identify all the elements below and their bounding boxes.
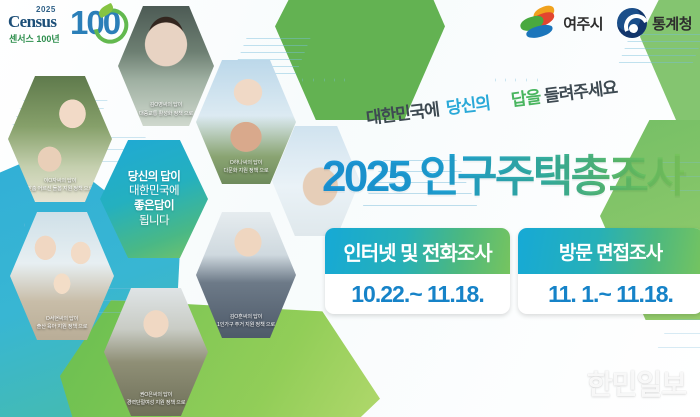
watermark: 한민일보 (587, 363, 686, 403)
slogan-line-3: 좋은답이 (128, 199, 181, 214)
statistics-korea-label: 통계청 (652, 13, 692, 34)
survey-box-visit-interview-period: 11. 1.~ 11.18. (518, 274, 700, 314)
survey-box-internet-phone: 인터넷 및 전화조사 10.22.~ 11.18. (325, 228, 510, 314)
census-poster: 2025 Census 센서스 100년 100 여주시 통계청 김O영씨의 답… (0, 0, 700, 417)
statistics-korea-taegeuk-icon (617, 8, 647, 38)
yeoju-city-logo: 여주시 (517, 6, 603, 40)
survey-box-visit-interview-title: 방문 면접조사 (518, 228, 700, 274)
slogan-line-1: 당신의 답이 (128, 170, 181, 185)
yeoju-city-label: 여주시 (563, 13, 603, 34)
yeoju-flame-icon (517, 6, 559, 40)
census-logo: 2025 Census 센서스 100년 100 (6, 4, 118, 46)
slogan-line-2: 대한민국에 (128, 184, 181, 199)
handwriting-part-3: 답을 (509, 83, 541, 111)
statistics-korea-logo: 통계청 (617, 8, 692, 38)
page-title: 2025 인구주택총조사 (322, 140, 684, 204)
slogan-line-4: 됩니다 (128, 214, 181, 229)
survey-box-visit-interview: 방문 면접조사 11. 1.~ 11.18. (518, 228, 700, 314)
survey-box-internet-phone-title: 인터넷 및 전화조사 (325, 228, 510, 274)
census-logo-name-en: Census (8, 12, 56, 32)
organization-logos: 여주시 통계청 (517, 6, 692, 40)
handwriting-part-2: 당신의 (444, 89, 491, 119)
census-logo-name-kr: 센서스 100년 (9, 32, 60, 45)
survey-box-internet-phone-period: 10.22.~ 11.18. (325, 274, 510, 314)
handwriting-part-4: 들려주세요 (542, 73, 618, 107)
handwriting-part-1: 대한민국에 (364, 95, 440, 129)
handwriting-headline: 대한민국에 당신의 답을 들려주세요 (366, 78, 676, 130)
